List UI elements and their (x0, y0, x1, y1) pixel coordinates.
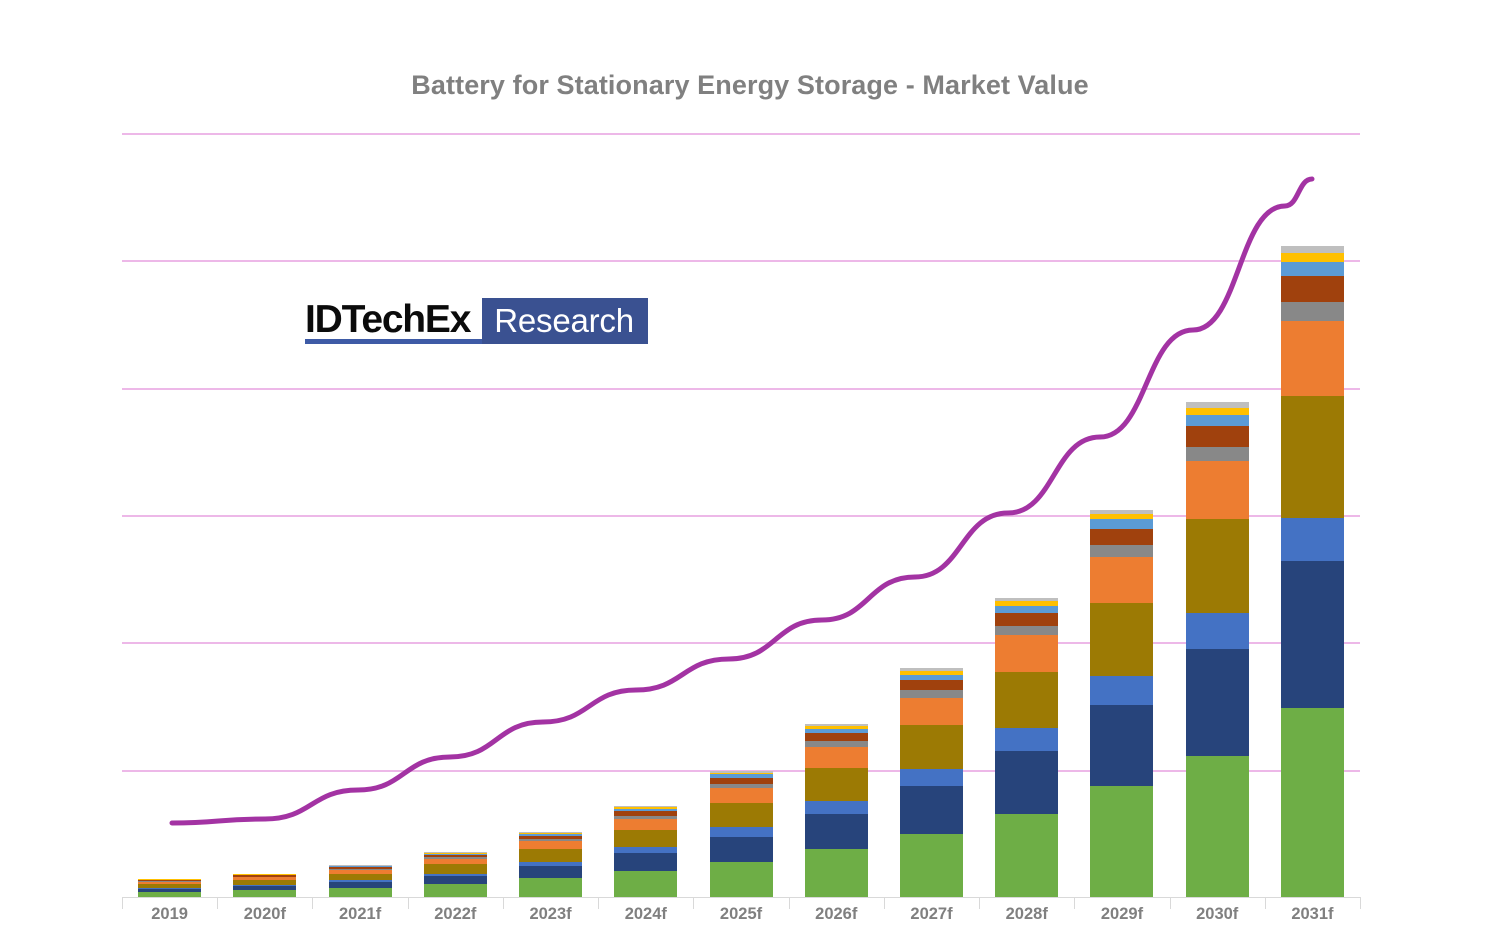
stacked-bar[interactable] (424, 852, 487, 897)
bar-segment (995, 751, 1058, 814)
bar-segment (805, 733, 868, 741)
x-axis-label: 2030f (1170, 905, 1265, 924)
bar-segment (519, 866, 582, 878)
bar-segment (614, 853, 677, 871)
stacked-bar[interactable] (710, 771, 773, 897)
bar-segment (138, 892, 201, 897)
bar-slot (789, 133, 884, 897)
bar-segment (900, 834, 963, 897)
bar-segment (1090, 705, 1153, 786)
bar-slot (1170, 133, 1265, 897)
x-axis-label: 2025f (693, 905, 788, 924)
bar-segment (995, 672, 1058, 729)
bar-segment (805, 768, 868, 801)
bar-segment (1281, 246, 1344, 253)
chart-container: Battery for Stationary Energy Storage - … (0, 0, 1500, 950)
bar-segment (1281, 396, 1344, 518)
bar-segment (614, 830, 677, 847)
bar-slot (1265, 133, 1360, 897)
bar-segment (1281, 302, 1344, 321)
stacked-bar[interactable] (1090, 510, 1153, 897)
stacked-bar[interactable] (519, 832, 582, 897)
bar-segment (1090, 557, 1153, 603)
stacked-bar[interactable] (233, 874, 296, 897)
x-axis-label: 2028f (979, 905, 1074, 924)
bar-segment (1281, 561, 1344, 708)
idtechex-logo: IDTechEx Research (305, 298, 648, 344)
stacked-bar[interactable] (995, 598, 1058, 897)
bar-segment (900, 725, 963, 768)
bar-segment (900, 698, 963, 726)
x-axis-label: 2019 (122, 905, 217, 924)
bar-segment (805, 814, 868, 849)
bar-segment (995, 613, 1058, 626)
bar-segment (1281, 276, 1344, 302)
stacked-bar[interactable] (329, 865, 392, 897)
bar-segment (519, 878, 582, 897)
stacked-bar[interactable] (1281, 246, 1344, 897)
stacked-bar[interactable] (900, 668, 963, 897)
bar-segment (424, 864, 487, 873)
bar-segment (1186, 408, 1249, 415)
x-axis-label: 2022f (408, 905, 503, 924)
bar-segment (995, 728, 1058, 751)
bar-segment (1090, 529, 1153, 545)
bar-slot (693, 133, 788, 897)
bar-slot (884, 133, 979, 897)
bar-segment (710, 862, 773, 897)
plot-area (122, 133, 1360, 897)
bar-segment (1186, 519, 1249, 613)
bar-segment (995, 814, 1058, 897)
x-axis-label: 2031f (1265, 905, 1360, 924)
bar-segment (1090, 676, 1153, 705)
bar-segment (995, 626, 1058, 635)
bar-segment (1186, 461, 1249, 519)
bar-segment (995, 635, 1058, 671)
bar-group (122, 133, 1360, 897)
bar-segment (900, 690, 963, 697)
bar-segment (805, 849, 868, 897)
x-axis-label: 2027f (884, 905, 979, 924)
bar-segment (1186, 415, 1249, 426)
bar-segment (233, 890, 296, 897)
bar-segment (1186, 447, 1249, 462)
bar-segment (710, 837, 773, 862)
stacked-bar[interactable] (614, 806, 677, 897)
bar-segment (900, 769, 963, 787)
x-axis-label: 2023f (503, 905, 598, 924)
x-axis-label: 2026f (789, 905, 884, 924)
bar-segment (519, 841, 582, 849)
bar-segment (614, 871, 677, 897)
bar-segment (329, 888, 392, 897)
stacked-bar[interactable] (138, 879, 201, 897)
bar-segment (1281, 708, 1344, 897)
x-axis-label: 2021f (312, 905, 407, 924)
stacked-bar[interactable] (805, 724, 868, 897)
bar-segment (710, 803, 773, 827)
bar-segment (1090, 603, 1153, 676)
bar-segment (424, 876, 487, 884)
bar-segment (1186, 649, 1249, 756)
chart-title: Battery for Stationary Energy Storage - … (0, 70, 1500, 101)
bar-segment (1281, 321, 1344, 396)
bar-slot (598, 133, 693, 897)
bar-slot (1074, 133, 1169, 897)
bar-segment (1281, 518, 1344, 561)
bar-segment (995, 606, 1058, 613)
bar-segment (519, 849, 582, 862)
bar-segment (1281, 253, 1344, 262)
bar-segment (424, 884, 487, 897)
bar-segment (614, 819, 677, 830)
x-axis-label: 2029f (1074, 905, 1169, 924)
logo-research-badge: Research (482, 298, 648, 344)
bar-segment (710, 827, 773, 836)
bar-segment (805, 801, 868, 814)
bar-slot (503, 133, 598, 897)
bar-slot (979, 133, 1074, 897)
bar-slot (122, 133, 217, 897)
bar-segment (710, 788, 773, 804)
stacked-bar[interactable] (1186, 402, 1249, 897)
bar-segment (1090, 545, 1153, 557)
bar-slot (312, 133, 407, 897)
logo-wordmark: IDTechEx (305, 298, 482, 344)
bar-segment (1186, 426, 1249, 446)
bar-segment (1186, 613, 1249, 648)
x-axis-labels: 20192020f2021f2022f2023f2024f2025f2026f2… (122, 905, 1360, 924)
bar-segment (1281, 262, 1344, 277)
bar-slot (408, 133, 503, 897)
x-axis-label: 2020f (217, 905, 312, 924)
x-axis-label: 2024f (598, 905, 693, 924)
bar-segment (329, 874, 392, 881)
axis-tick (1360, 897, 1361, 909)
bar-segment (1090, 519, 1153, 528)
bar-segment (1090, 786, 1153, 897)
bar-segment (1186, 756, 1249, 897)
bar-segment (900, 680, 963, 690)
bar-segment (805, 747, 868, 768)
bar-segment (900, 786, 963, 834)
bar-slot (217, 133, 312, 897)
